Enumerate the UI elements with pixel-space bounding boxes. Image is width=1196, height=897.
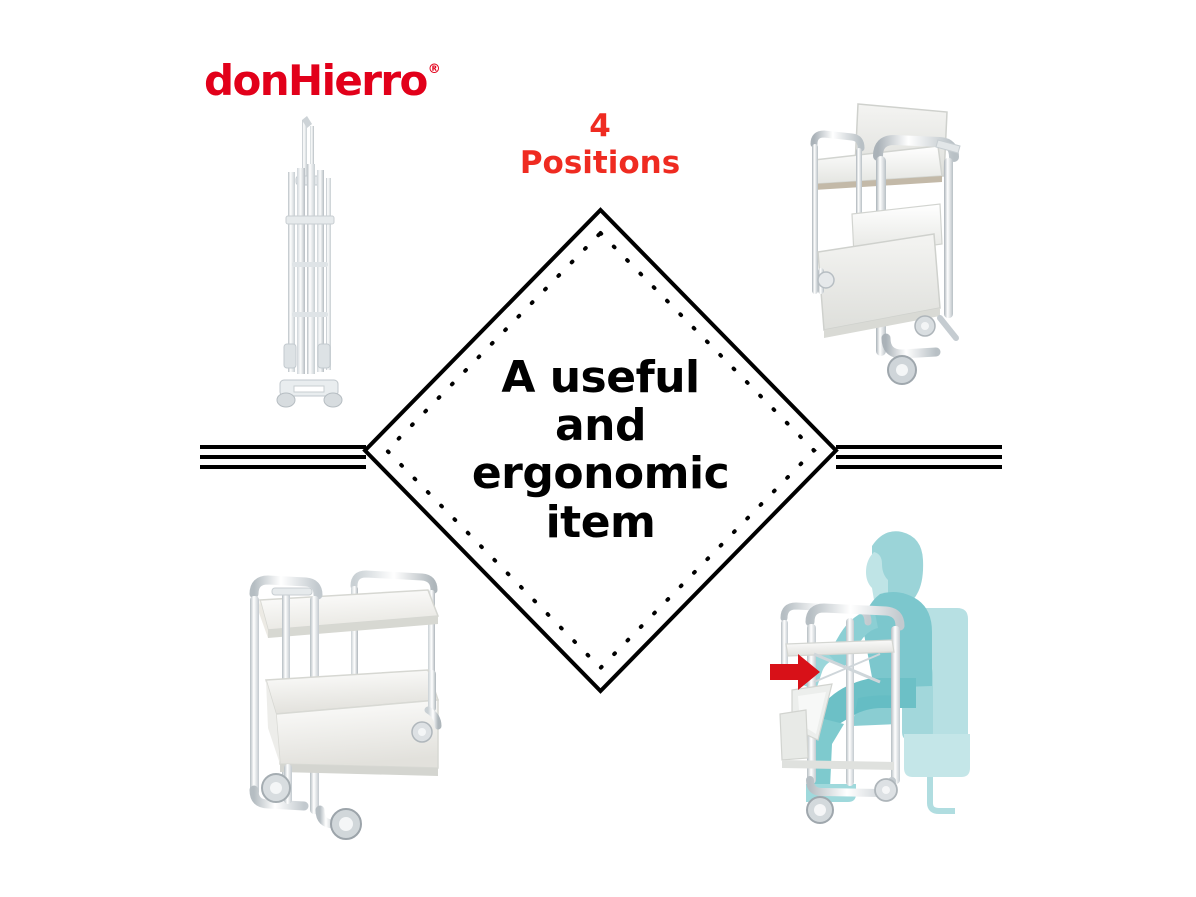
positions-line-1: 4 (430, 108, 770, 145)
rule-line (836, 455, 1002, 459)
center-line-4: item (436, 499, 766, 547)
positions-headline: 4 Positions (430, 108, 770, 181)
slide-canvas: donHierro ® 4 Positions A useful and erg… (0, 0, 1196, 897)
center-message: A useful and ergonomic item (436, 354, 766, 548)
center-line-3: ergonomic (436, 451, 766, 499)
product-photo-folded-upright (258, 112, 362, 418)
product-photo-open-trolley (232, 552, 454, 860)
open-trolley-illustration (232, 552, 454, 860)
positions-line-2: Positions (430, 145, 770, 182)
product-photo-seated-user (762, 522, 980, 830)
side-view-trolley-illustration (792, 92, 980, 410)
folded-trolley-illustration (258, 112, 362, 418)
right-triple-rule (836, 445, 1002, 469)
brand-name: donHierro (204, 60, 427, 102)
center-line-1: A useful (436, 354, 766, 402)
brand-logo: donHierro ® (204, 60, 441, 102)
registered-trademark-icon: ® (428, 63, 441, 76)
left-triple-rule (200, 445, 366, 469)
rule-line (200, 465, 366, 469)
rule-line (200, 445, 366, 449)
rule-line (836, 445, 1002, 449)
product-photo-folded-side (792, 92, 980, 410)
seated-user-illustration (762, 522, 980, 830)
rule-line (200, 455, 366, 459)
rule-line (836, 465, 1002, 469)
center-line-2: and (436, 402, 766, 450)
